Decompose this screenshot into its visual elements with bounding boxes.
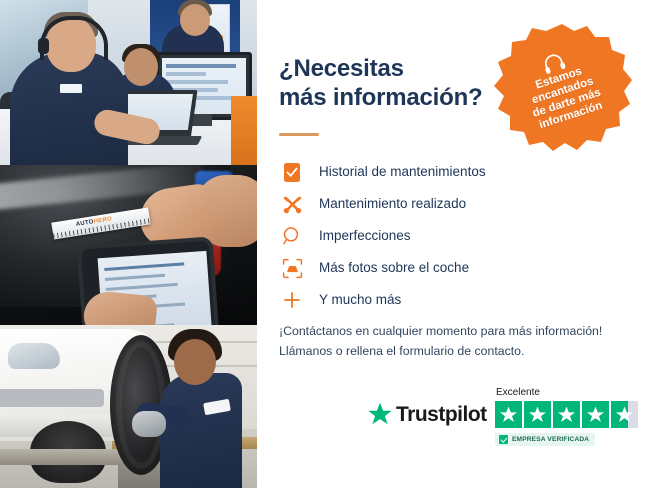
feature-item-imperfections: Imperfecciones <box>279 220 619 252</box>
trustpilot-star-row <box>495 401 650 428</box>
trustpilot-star <box>524 401 551 428</box>
feature-list: Historial de mantenimientos M <box>279 156 619 316</box>
trustpilot-star <box>582 401 609 428</box>
work-glove <box>132 411 166 437</box>
trustpilot-score-block: Excelente <box>495 388 650 449</box>
title-divider <box>279 133 319 136</box>
feature-label: Mantenimiento realizado <box>319 197 466 211</box>
page-title-line1: ¿Necesitas <box>279 55 404 82</box>
checklist-document-icon <box>279 159 305 185</box>
trustpilot-logo[interactable]: Trustpilot <box>367 402 487 427</box>
support-badge: Estamos encantados de darte más informac… <box>492 22 632 155</box>
trustpilot-rating: Trustpilot Excelente <box>367 388 650 450</box>
feature-label: Imperfecciones <box>319 229 411 243</box>
trustpilot-star <box>495 401 522 428</box>
trustpilot-rating-label: Excelente <box>496 388 650 398</box>
vehicle-inspection-ruler-tablet-photo: AUTOHERO <box>0 165 257 325</box>
foreground-agent-with-headset <box>10 52 128 165</box>
feature-label: Y mucho más <box>319 293 401 307</box>
trustpilot-wordmark: Trustpilot <box>396 403 487 427</box>
trustpilot-star-partial <box>611 401 638 428</box>
verified-company-badge: EMPRESA VERIFICADA <box>495 433 595 446</box>
contact-paragraph: ¡Contáctanos en cualquier momento para m… <box>279 322 631 362</box>
feature-item-more-photos: Más fotos sobre el coche <box>279 252 619 284</box>
feature-label: Más fotos sobre el coche <box>319 261 469 275</box>
page-title: ¿Necesitas más información? <box>279 54 509 113</box>
verified-label: EMPRESA VERIFICADA <box>512 436 589 443</box>
promo-banner: AUTOHERO <box>0 0 650 488</box>
contact-line-1: ¡Contáctanos en cualquier momento para m… <box>279 322 631 342</box>
orange-equipment <box>231 96 257 165</box>
feature-item-maintenance-history: Historial de mantenimientos <box>279 156 619 188</box>
page-title-line2: más información? <box>279 83 509 112</box>
feature-item-maintenance-done: Mantenimiento realizado <box>279 188 619 220</box>
trustpilot-star <box>553 401 580 428</box>
magnifier-icon <box>279 223 305 249</box>
contact-line-2: Llámanos o rellena el formulario de cont… <box>279 342 631 362</box>
feature-item-much-more: Y mucho más <box>279 284 619 316</box>
trustpilot-star-icon <box>367 402 393 427</box>
mechanic <box>160 373 242 488</box>
photo-column: AUTOHERO <box>0 0 257 488</box>
call-centre-agents-photo <box>0 0 257 165</box>
crossed-tools-icon <box>279 191 305 217</box>
plus-icon <box>279 287 305 313</box>
mechanic-wheel-inspection-photo <box>0 325 257 488</box>
feature-label: Historial de mantenimientos <box>319 165 486 179</box>
verified-check-icon <box>499 435 508 444</box>
content-panel: ¿Necesitas más información? Estamos enca… <box>257 0 650 488</box>
car-scan-icon <box>279 255 305 281</box>
